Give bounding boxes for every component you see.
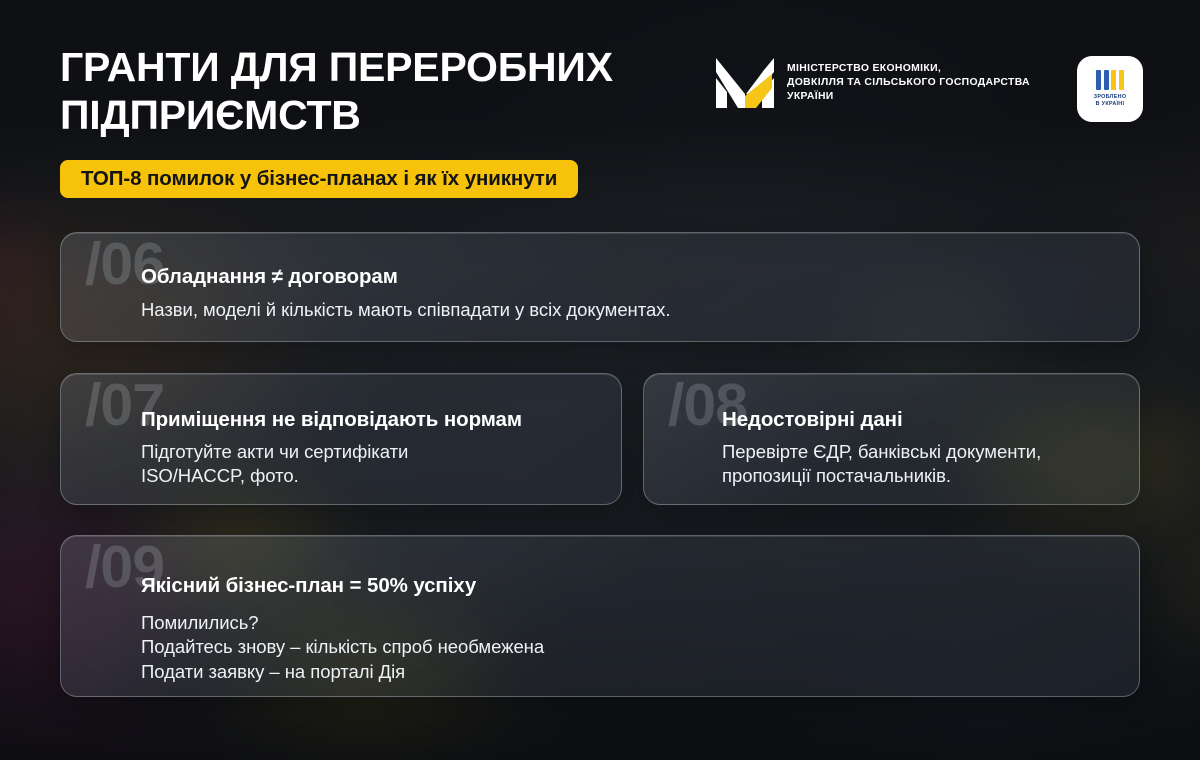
tip-card-07: /07 Приміщення не відповідають нормам Пі… [60,373,622,505]
card-content: Якісний бізнес-план = 50% успіху Помилил… [141,574,544,684]
ministry-lockup: Міністерство економіки, довкілля та сіль… [716,58,1030,108]
card-title: Приміщення не відповідають нормам [141,408,522,433]
card-content: Приміщення не відповідають нормам Підгот… [141,408,522,489]
card-body: Помилились? Подайтесь знову – кількість … [141,611,544,685]
ministry-m-logo-icon [716,58,774,108]
tip-card-09: /09 Якісний бізнес-план = 50% успіху Пом… [60,535,1140,697]
card-title: Недостовірні дані [722,408,1041,433]
header: Гранти для переробних підприємств Мініст… [0,0,1200,150]
card-content: Недостовірні дані Перевірте ЄДР, банківс… [722,408,1041,489]
subtitle-banner: ТОП-8 помилок у бізнес-планах і як їх ун… [60,160,578,198]
card-body: Перевірте ЄДР, банківські документи, про… [722,440,1041,489]
card-body: Підготуйте акти чи сертифікати ISO/HACCP… [141,440,522,489]
infographic-slide: Гранти для переробних підприємств Мініст… [0,0,1200,760]
card-body: Назви, моделі й кількість мають співпада… [141,298,670,323]
tip-card-06: /06 Обладнання ≠ договорам Назви, моделі… [60,232,1140,342]
card-title: Обладнання ≠ договорам [141,265,670,290]
page-title: Гранти для переробних підприємств [60,44,700,139]
made-in-ukraine-bars-icon [1096,70,1124,90]
card-content: Обладнання ≠ договорам Назви, моделі й к… [141,265,670,322]
made-in-ukraine-badge: Зроблено в Україні [1077,56,1143,122]
tip-card-08: /08 Недостовірні дані Перевірте ЄДР, бан… [643,373,1140,505]
made-in-ukraine-caption: Зроблено в Україні [1094,94,1127,109]
ministry-name: Міністерство економіки, довкілля та сіль… [787,62,1030,105]
card-title: Якісний бізнес-план = 50% успіху [141,574,544,599]
